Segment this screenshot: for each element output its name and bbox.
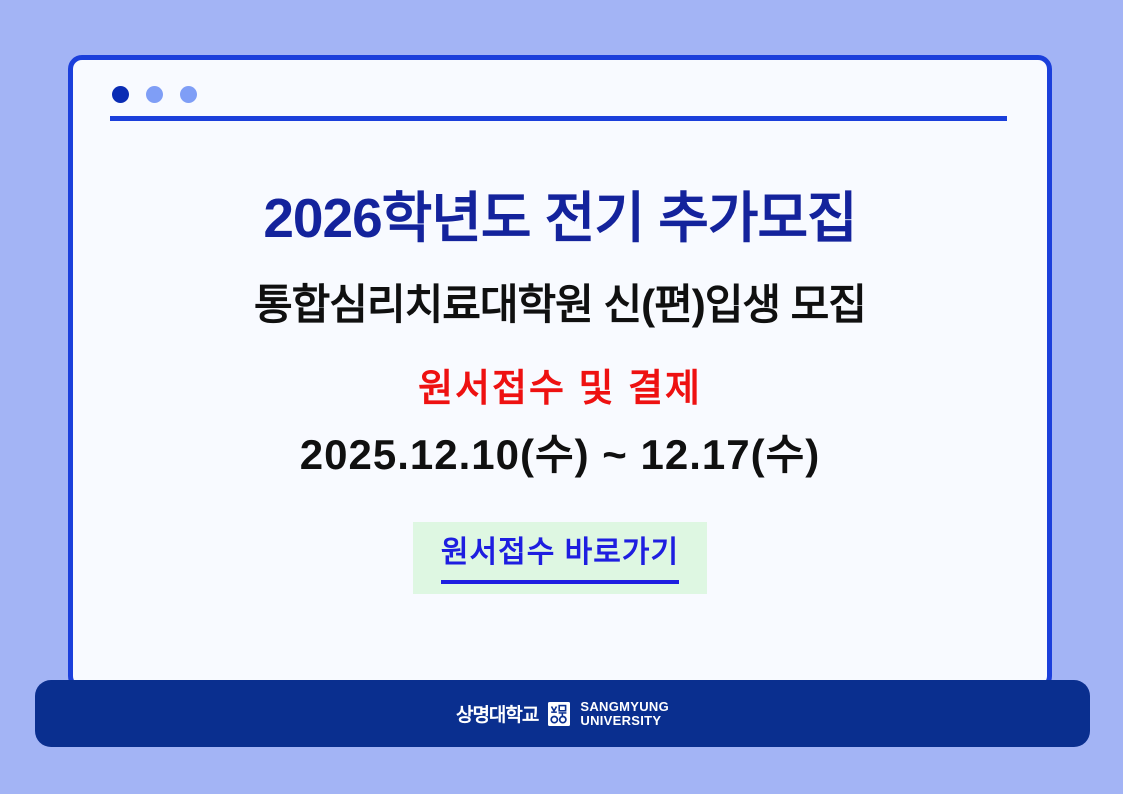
- apply-now-underline: [441, 580, 679, 584]
- apply-now-button[interactable]: 원서접수 바로가기: [413, 522, 707, 594]
- university-name-english-line2: UNIVERSITY: [580, 714, 669, 728]
- window-dot-close-icon: [112, 86, 129, 103]
- window-dot-maximize-icon: [180, 86, 197, 103]
- poster-subtitle: 통합심리치료대학원 신(편)입생 모집: [73, 284, 1047, 326]
- window-dots: [112, 86, 197, 103]
- apply-link-wrapper: 원서접수 바로가기: [73, 522, 1047, 594]
- window-dot-minimize-icon: [146, 86, 163, 103]
- poster-content: 2026학년도 전기 추가모집 통합심리치료대학원 신(편)입생 모집 원서접수…: [73, 155, 1047, 594]
- university-name-korean: 상명대학교: [456, 700, 538, 727]
- university-name-english-line1: SANGMYUNG: [580, 700, 669, 714]
- apply-now-label: 원서접수 바로가기: [441, 538, 679, 568]
- page-title: 2026학년도 전기 추가모집: [73, 191, 1047, 246]
- sangmyung-emblem-icon: [546, 701, 572, 727]
- university-name-english: SANGMYUNG UNIVERSITY: [580, 700, 669, 727]
- footer-bar: 상명대학교 SANGMYUNG UNIVERSITY: [35, 680, 1090, 747]
- application-date-range: 2025.12.10(수) ~ 12.17(수): [73, 434, 1047, 476]
- application-section-label: 원서접수 및 결제: [73, 370, 1047, 408]
- university-logo: 상명대학교 SANGMYUNG UNIVERSITY: [456, 700, 669, 727]
- header-divider: [110, 116, 1007, 121]
- poster-card: 2026학년도 전기 추가모집 통합심리치료대학원 신(편)입생 모집 원서접수…: [68, 55, 1052, 690]
